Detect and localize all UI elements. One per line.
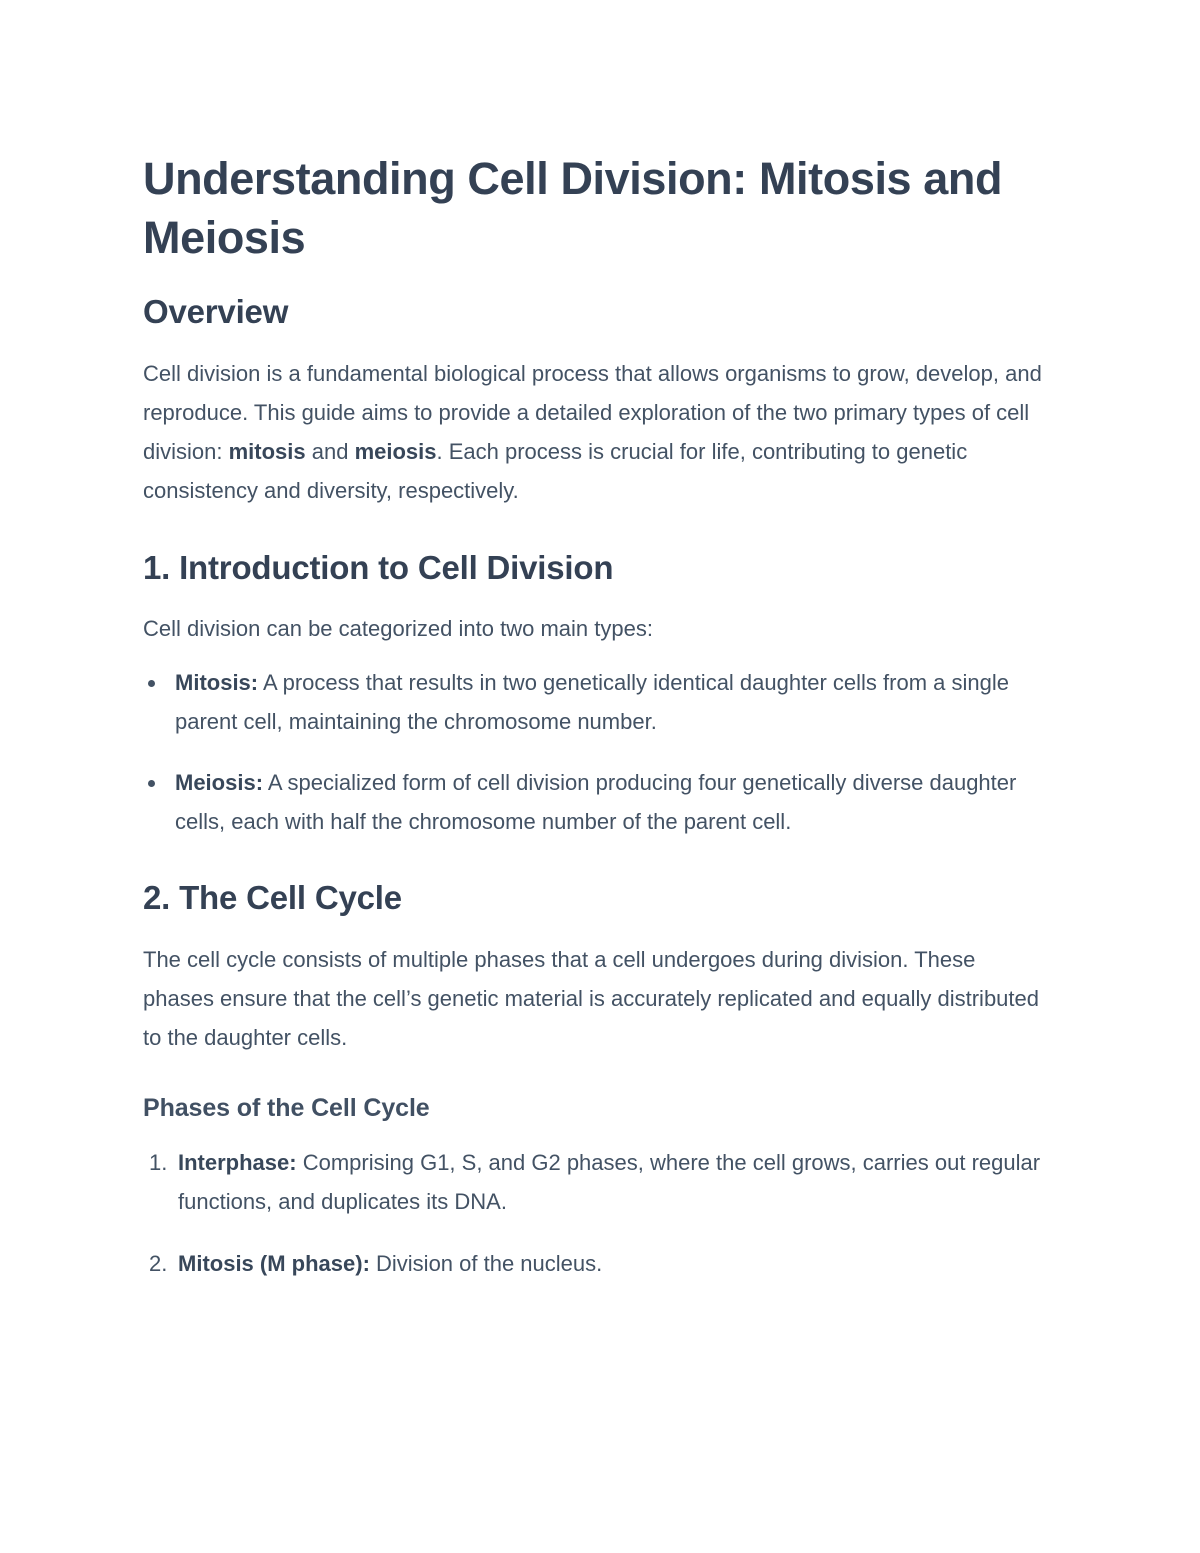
list-item: Mitosis (M phase): Division of the nucle… [143,1244,1050,1283]
list-item: Mitosis: A process that results in two g… [143,663,1050,741]
bullet-text-mitosis: A process that results in two geneticall… [175,670,1009,734]
bullet-text-meiosis: A specialized form of cell division prod… [175,770,1016,834]
overview-bold-meiosis: meiosis [355,439,437,464]
numbered-label-interphase: Interphase: [178,1150,297,1175]
overview-bold-mitosis: mitosis [229,439,306,464]
sub-heading-phases: Phases of the Cell Cycle [143,1092,1050,1126]
numbered-text-mitosis-m-phase: Division of the nucleus. [370,1251,602,1276]
list-item: Meiosis: A specialized form of cell divi… [143,763,1050,841]
overview-paragraph: Cell division is a fundamental biologica… [143,354,1050,511]
numbered-text-interphase: Comprising G1, S, and G2 phases, where t… [178,1150,1040,1214]
section2-paragraph: The cell cycle consists of multiple phas… [143,940,1050,1057]
section1-intro-paragraph: Cell division can be categorized into tw… [143,609,1050,648]
list-item: Interphase: Comprising G1, S, and G2 pha… [143,1143,1050,1221]
numbered-label-mitosis-m-phase: Mitosis (M phase): [178,1251,370,1276]
bullet-label-meiosis: Meiosis: [175,770,263,795]
section-heading-overview: Overview [143,291,1050,334]
section-heading-introduction: 1. Introduction to Cell Division [143,547,1050,590]
document-page: Understanding Cell Division: Mitosis and… [0,0,1200,1553]
section-heading-cell-cycle: 2. The Cell Cycle [143,877,1050,920]
page-title: Understanding Cell Division: Mitosis and… [143,150,1023,267]
cell-division-types-list: Mitosis: A process that results in two g… [143,663,1050,842]
overview-text-between: and [306,439,355,464]
bullet-label-mitosis: Mitosis: [175,670,258,695]
cell-cycle-phases-list: Interphase: Comprising G1, S, and G2 pha… [143,1143,1050,1282]
